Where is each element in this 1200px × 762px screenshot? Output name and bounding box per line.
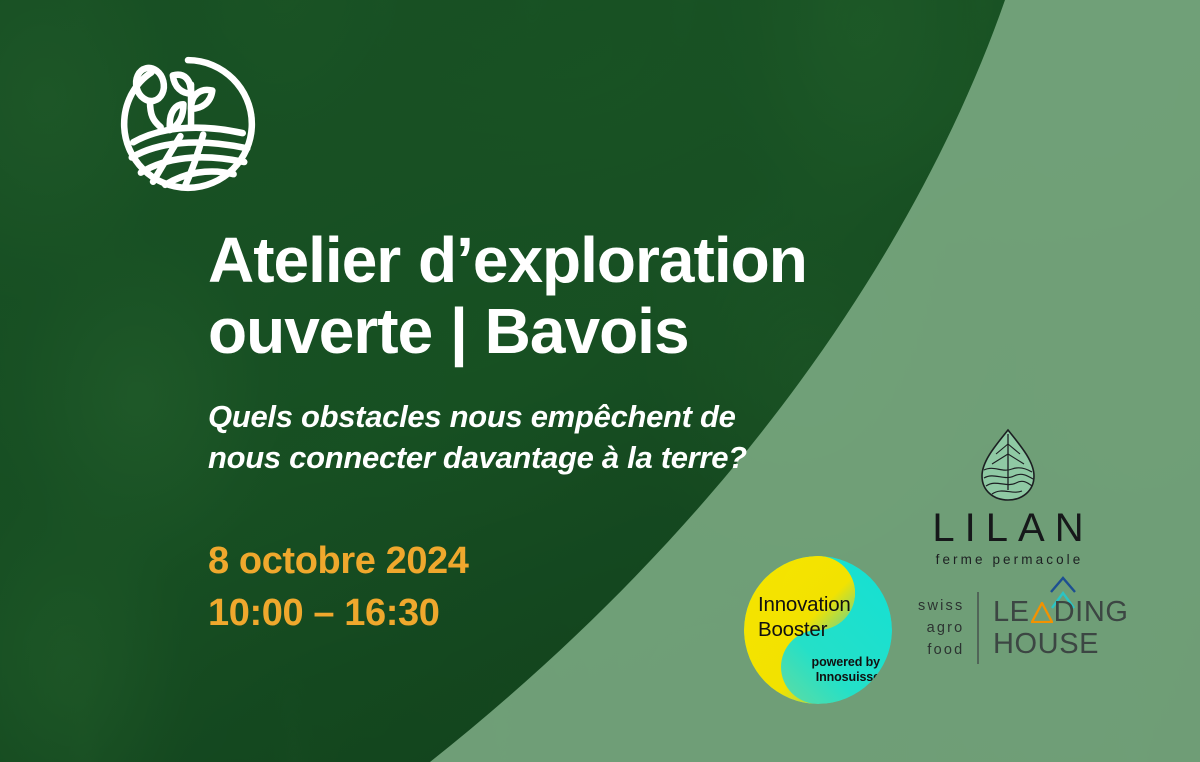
lilan-wordmark: LILAN — [913, 508, 1103, 548]
partner-logos: swiss agro food LEDING HOUSE — [918, 592, 1129, 664]
innovation-booster-logo: Innovation Booster powered by Innosuisse — [744, 556, 892, 704]
subtitle-line-1: Quels obstacles nous empêchent de — [208, 399, 736, 434]
leaf-drop-icon — [980, 428, 1036, 502]
page-title: Atelier d’exploration ouverte | Bavois — [208, 225, 938, 367]
saf-line-3: food — [918, 639, 964, 661]
lilan-logo: LILAN ferme permacole — [913, 428, 1103, 567]
poster-subtitle: Quels obstacles nous empêchent de nous c… — [208, 397, 898, 478]
booster-title-line-1: Innovation — [758, 593, 851, 616]
saf-line-2: agro — [918, 617, 964, 639]
subtitle-line-2: nous connecter davantage à la terre? — [208, 440, 747, 475]
swiss-agro-food-logo: swiss agro food — [918, 595, 977, 661]
saf-line-1: swiss — [918, 595, 964, 617]
orange-triangle-a-icon — [1031, 602, 1053, 623]
powered-line-2: Innosuisse — [816, 670, 880, 684]
booster-title: Innovation Booster — [758, 592, 851, 642]
booster-powered-by: powered by Innosuisse — [812, 655, 880, 686]
lh-pre: LE — [993, 596, 1030, 628]
leading-house-logo: LEDING HOUSE — [979, 596, 1129, 661]
booster-title-line-2: Booster — [758, 618, 827, 641]
farm-field-sprout-icon — [112, 48, 264, 200]
leading-house-line-2: HOUSE — [993, 628, 1129, 660]
title-line-1: Atelier d’exploration — [208, 224, 807, 296]
lh-post: DING — [1054, 596, 1129, 628]
lilan-tagline: ferme permacole — [913, 553, 1103, 567]
event-poster: Atelier d’exploration ouverte | Bavois Q… — [0, 0, 1200, 762]
title-line-2: ouverte | Bavois — [208, 295, 689, 367]
leading-house-line-1: LEDING — [993, 596, 1129, 628]
powered-line-1: powered by — [812, 655, 880, 669]
